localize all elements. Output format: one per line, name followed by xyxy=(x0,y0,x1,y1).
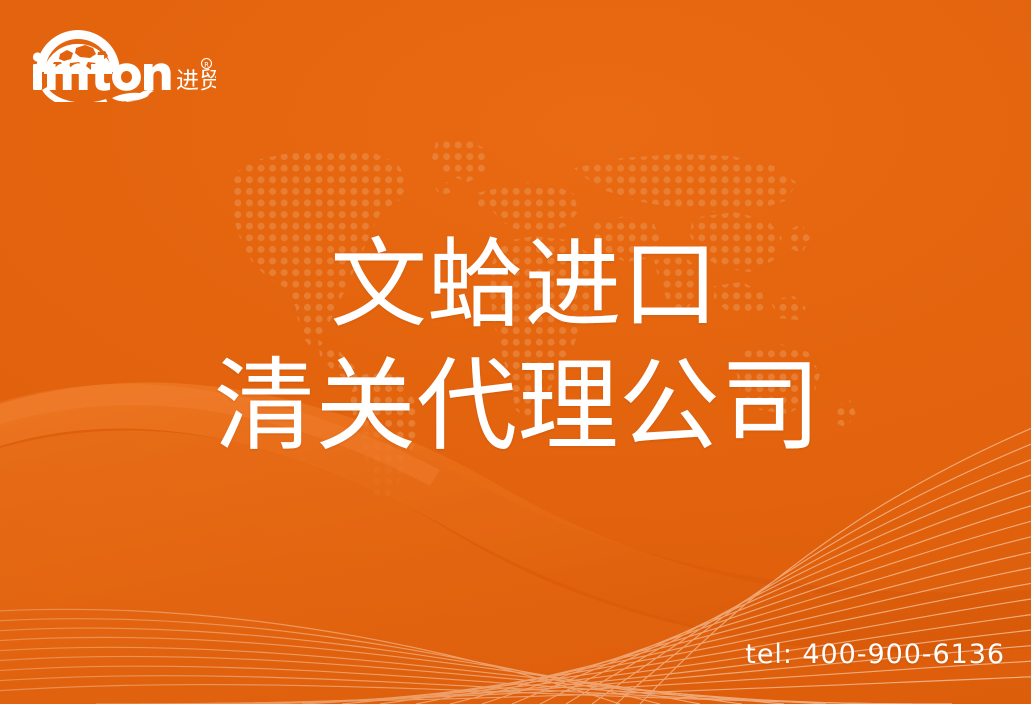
logo-chinese-name: 进贸通 xyxy=(176,68,216,94)
headline-block: 文蛤进口 清关代理公司 xyxy=(0,233,1031,461)
headline-line-2: 清关代理公司 xyxy=(0,352,1031,461)
bird-icon xyxy=(112,90,154,102)
contact-phone[interactable]: tel: 400-900-6136 xyxy=(745,639,1005,670)
brand-logo[interactable]: 进贸通 R xyxy=(30,28,216,102)
registered-trademark-icon: R xyxy=(202,59,212,70)
svg-text:R: R xyxy=(204,61,209,69)
promo-banner: 进贸通 R 文蛤进口 清关代理公司 tel: 400-900-6136 xyxy=(0,0,1031,704)
headline-line-1: 文蛤进口 xyxy=(0,233,1031,338)
